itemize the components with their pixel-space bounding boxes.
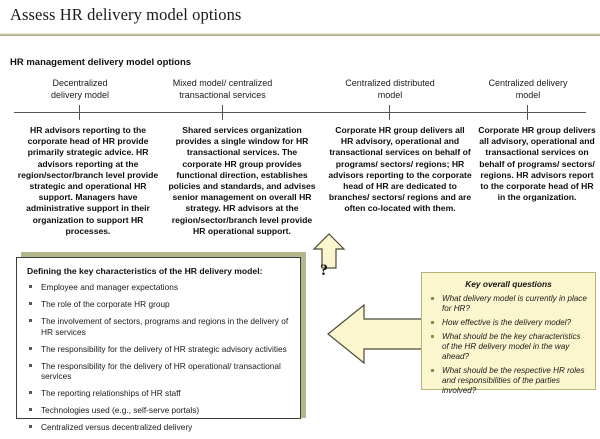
- list-item: The responsibility for the delivery of H…: [27, 344, 292, 355]
- list-item: Technologies used (e.g., self-serve port…: [27, 405, 292, 416]
- list-item: What should be the respective HR roles a…: [429, 366, 589, 396]
- column-header-line2: model: [330, 90, 450, 102]
- bullet-icon: [29, 408, 32, 411]
- bullet-icon: [29, 391, 32, 394]
- column-body-centralized-delivery: Corporate HR group delivers all advisory…: [478, 125, 596, 203]
- up-arrow-icon: [311, 232, 347, 270]
- bullet-icon: [29, 302, 32, 305]
- section-heading: HR management delivery model options: [10, 57, 191, 68]
- question-mark-annotation: ?: [320, 262, 328, 280]
- list-item-label: How effective is the delivery model?: [442, 318, 571, 327]
- column-header-line1: Decentralized: [20, 78, 140, 90]
- list-item: Centralized versus decentralized deliver…: [27, 422, 292, 433]
- bullet-icon: [431, 297, 434, 300]
- title-divider: [0, 33, 600, 36]
- list-item-label: The involvement of sectors, programs and…: [41, 316, 288, 337]
- axis-tick-1: [79, 105, 80, 120]
- bullet-icon: [29, 319, 32, 322]
- list-item-label: The role of the corporate HR group: [41, 299, 170, 309]
- page-title: Assess HR delivery model options: [10, 5, 241, 25]
- list-item: The responsibility for the delivery of H…: [27, 361, 292, 382]
- key-questions-list: What delivery model is currently in plac…: [429, 294, 589, 400]
- characteristics-list: Employee and manager expectations The ro…: [27, 282, 292, 439]
- column-header-line1: Centralized distributed: [330, 78, 450, 90]
- list-item: What should be the key characteristics o…: [429, 332, 589, 362]
- list-item: The role of the corporate HR group: [27, 299, 292, 310]
- bullet-icon: [431, 369, 434, 372]
- list-item: Employee and manager expectations: [27, 282, 292, 293]
- list-item: The reporting relationships of HR staff: [27, 388, 292, 399]
- column-header-line2: transactional services: [160, 90, 285, 102]
- list-item-label: The responsibility for the delivery of H…: [41, 361, 281, 382]
- bullet-icon: [29, 347, 32, 350]
- column-body-mixed: Shared services organization provides a …: [166, 125, 318, 237]
- characteristics-box-title: Defining the key characteristics of the …: [27, 266, 294, 277]
- list-item-label: What should be the respective HR roles a…: [442, 366, 585, 395]
- list-item-label: The reporting relationships of HR staff: [41, 388, 181, 398]
- column-header-decentralized: Decentralized delivery model: [20, 78, 140, 101]
- list-item-label: Employee and manager expectations: [41, 282, 178, 292]
- column-header-line1: Mixed model/ centralized: [160, 78, 285, 90]
- column-header-line2: delivery model: [20, 90, 140, 102]
- axis-tick-3: [389, 105, 390, 120]
- left-arrow-icon: [326, 302, 426, 366]
- model-continuum-axis: [14, 112, 586, 113]
- column-body-centralized-distributed: Corporate HR group delivers all HR advis…: [328, 125, 472, 215]
- bullet-icon: [29, 285, 32, 288]
- list-item-label: What should be the key characteristics o…: [442, 332, 581, 361]
- list-item-label: Technologies used (e.g., self-serve port…: [41, 405, 199, 415]
- bullet-icon: [29, 425, 32, 428]
- characteristics-box: Defining the key characteristics of the …: [16, 257, 301, 419]
- slide-canvas: Assess HR delivery model options HR mana…: [0, 0, 600, 421]
- bullet-icon: [431, 321, 434, 324]
- list-item-label: What delivery model is currently in plac…: [442, 294, 587, 313]
- column-header-line1: Centralized delivery: [470, 78, 586, 90]
- list-item: The involvement of sectors, programs and…: [27, 316, 292, 337]
- key-questions-callout: Key overall questions What delivery mode…: [421, 272, 596, 390]
- axis-tick-4: [527, 105, 528, 120]
- column-body-decentralized: HR advisors reporting to the corporate h…: [14, 125, 162, 237]
- key-questions-title: Key overall questions: [422, 279, 595, 289]
- column-header-mixed: Mixed model/ centralized transactional s…: [160, 78, 285, 101]
- list-item-label: The responsibility for the delivery of H…: [41, 344, 287, 354]
- axis-tick-2: [222, 105, 223, 120]
- list-item: What delivery model is currently in plac…: [429, 294, 589, 314]
- column-header-centralized-distributed: Centralized distributed model: [330, 78, 450, 101]
- bullet-icon: [29, 364, 32, 367]
- list-item-label: Centralized versus decentralized deliver…: [41, 422, 192, 432]
- column-header-centralized-delivery: Centralized delivery model: [470, 78, 586, 101]
- list-item: How effective is the delivery model?: [429, 318, 589, 328]
- bullet-icon: [431, 335, 434, 338]
- column-header-line2: model: [470, 90, 586, 102]
